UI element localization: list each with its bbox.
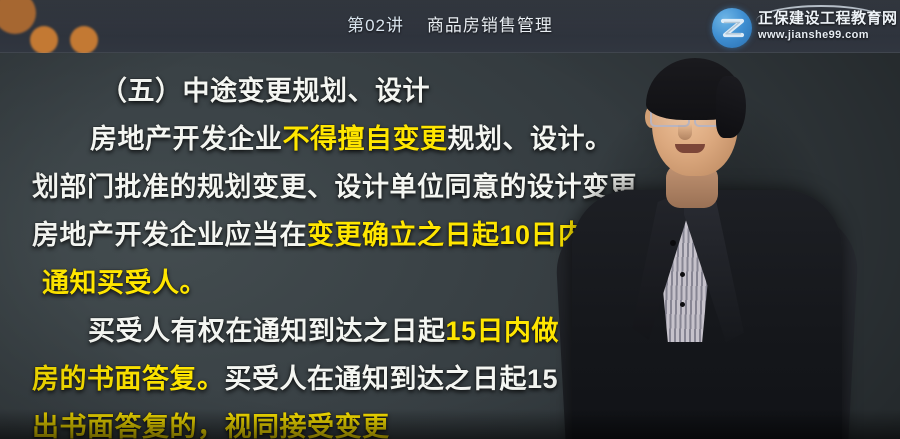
presenter-figure <box>520 40 900 439</box>
slide-line-8-seg-1-highlight: 出书面答复的， <box>32 412 225 439</box>
slide-line-2-seg-1: 房地产开发企业 <box>90 124 283 154</box>
slide-line-5: 通知买受人。 <box>42 261 207 300</box>
lecture-number: 第02讲 <box>347 16 404 35</box>
header-divider <box>0 52 900 53</box>
logo-z-icon <box>712 8 752 48</box>
slide-line-8: 出书面答复的，视同接受变更 <box>32 405 390 439</box>
presenter-lapel-mic-icon <box>670 240 676 246</box>
slide-line-6: 买受人有权在通知到达之日起15日内做 <box>88 309 559 348</box>
slide-line-7: 房的书面答复。买受人在通知到达之日起15 <box>32 357 558 396</box>
logo-brand-name: 正保建设工程教育网 <box>758 7 886 28</box>
lecture-subject: 商品房销售管理 <box>427 16 553 35</box>
site-logo[interactable]: 正保建设工程教育网 www.jianshe99.com <box>710 5 886 51</box>
slide-line-5-seg-1-highlight: 通知买受人。 <box>42 268 207 298</box>
slide-header-bar: 第02讲 商品房销售管理 正保建设工程教育网 www.jianshe99.com <box>0 0 900 53</box>
slide-line-7-seg-2: 买受人在通知到达之日起15 <box>225 364 559 394</box>
slide-line-8-seg-2-highlight: 视同接受变更 <box>225 412 390 439</box>
slide-line-4-seg-1: 房地产开发企业应当在 <box>32 220 307 250</box>
slide-line-4: 房地产开发企业应当在变更确立之日起10日内 <box>32 213 586 252</box>
presenter-nose <box>678 124 692 140</box>
video-frame: （五）中途变更规划、设计 房地产开发企业不得擅自变更规划、设计。 划部门批准的规… <box>0 0 900 439</box>
slide-line-7-seg-1-highlight: 房的书面答复。 <box>32 364 225 394</box>
slide-line-6-seg-1: 买受人有权在通知到达之日起 <box>88 316 446 346</box>
presenter-shirt-button-2 <box>680 302 685 307</box>
presenter-mouth <box>675 144 705 153</box>
slide-line-1-seg-1: （五）中途变更规划、设计 <box>100 76 430 106</box>
presenter-shirt-button-1 <box>680 272 685 277</box>
slide-line-2-seg-2-highlight: 不得擅自变更 <box>283 124 448 154</box>
logo-website-url: www.jianshe99.com <box>758 29 886 41</box>
slide-line-1: （五）中途变更规划、设计 <box>100 69 430 108</box>
